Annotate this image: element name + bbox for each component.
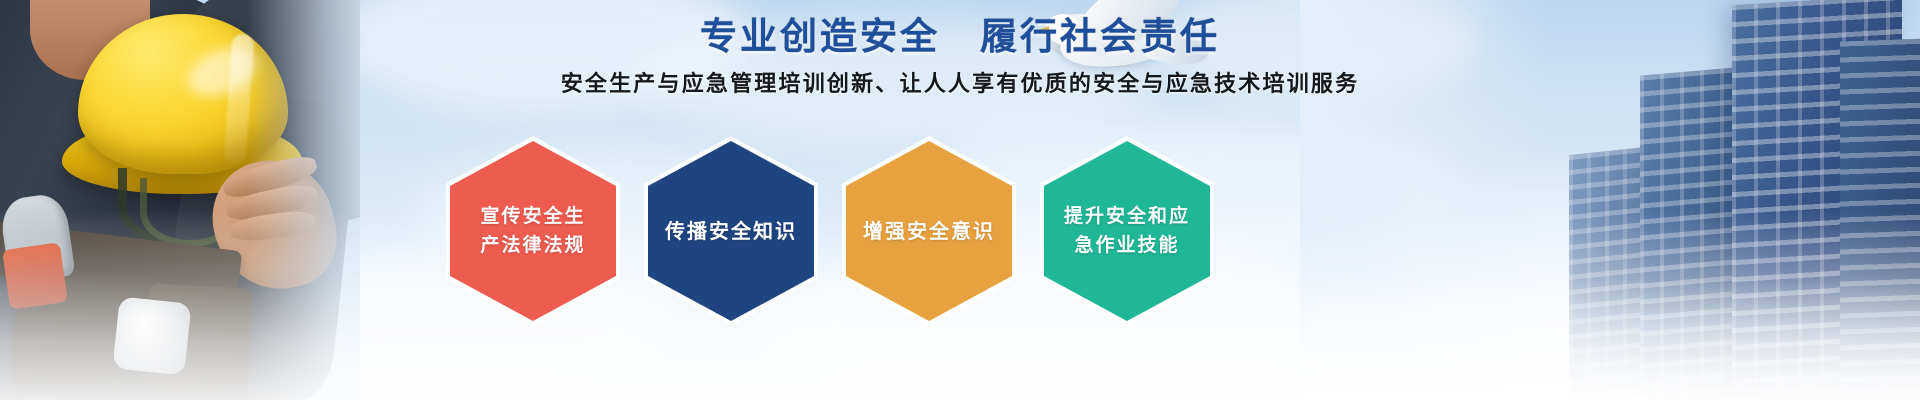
hexagon-fill: 提升安全和应 急作业技能 — [1044, 141, 1210, 321]
safety-training-banner: 专业创造安全 履行社会责任 安全生产与应急管理培训创新、让人人享有优质的安全与应… — [0, 0, 1920, 400]
hexagon-fill: 宣传安全生 产法律法规 — [450, 141, 616, 321]
hexagon-badge-row: 宣传安全生 产法律法规 传播安全知识 增强安全意识 提升安全和应 急作业技能 — [446, 136, 1456, 316]
hexagon-label-line2: 急作业技能 — [1068, 231, 1185, 260]
hexagon-label-line1: 传播安全知识 — [659, 216, 803, 247]
hexagon-label-line2: 产法律法规 — [474, 231, 591, 260]
hexagon-label-line1: 提升安全和应 — [1058, 202, 1196, 231]
page-subtitle: 安全生产与应急管理培训创新、让人人享有优质的安全与应急技术培训服务 — [0, 66, 1920, 98]
hexagon-label-line1: 增强安全意识 — [857, 216, 1001, 247]
page-title: 专业创造安全 履行社会责任 — [0, 6, 1920, 60]
hexagon-badge-spread-knowledge[interactable]: 传播安全知识 — [644, 136, 818, 326]
hexagon-fill: 传播安全知识 — [648, 141, 814, 321]
hexagon-badge-improve-skills[interactable]: 提升安全和应 急作业技能 — [1040, 136, 1214, 326]
hexagon-label-line1: 宣传安全生 — [474, 202, 591, 231]
hexagon-badge-raise-awareness[interactable]: 增强安全意识 — [842, 136, 1016, 326]
hexagon-fill: 增强安全意识 — [846, 141, 1012, 321]
hexagon-badge-publicize-law[interactable]: 宣传安全生 产法律法规 — [446, 136, 620, 326]
